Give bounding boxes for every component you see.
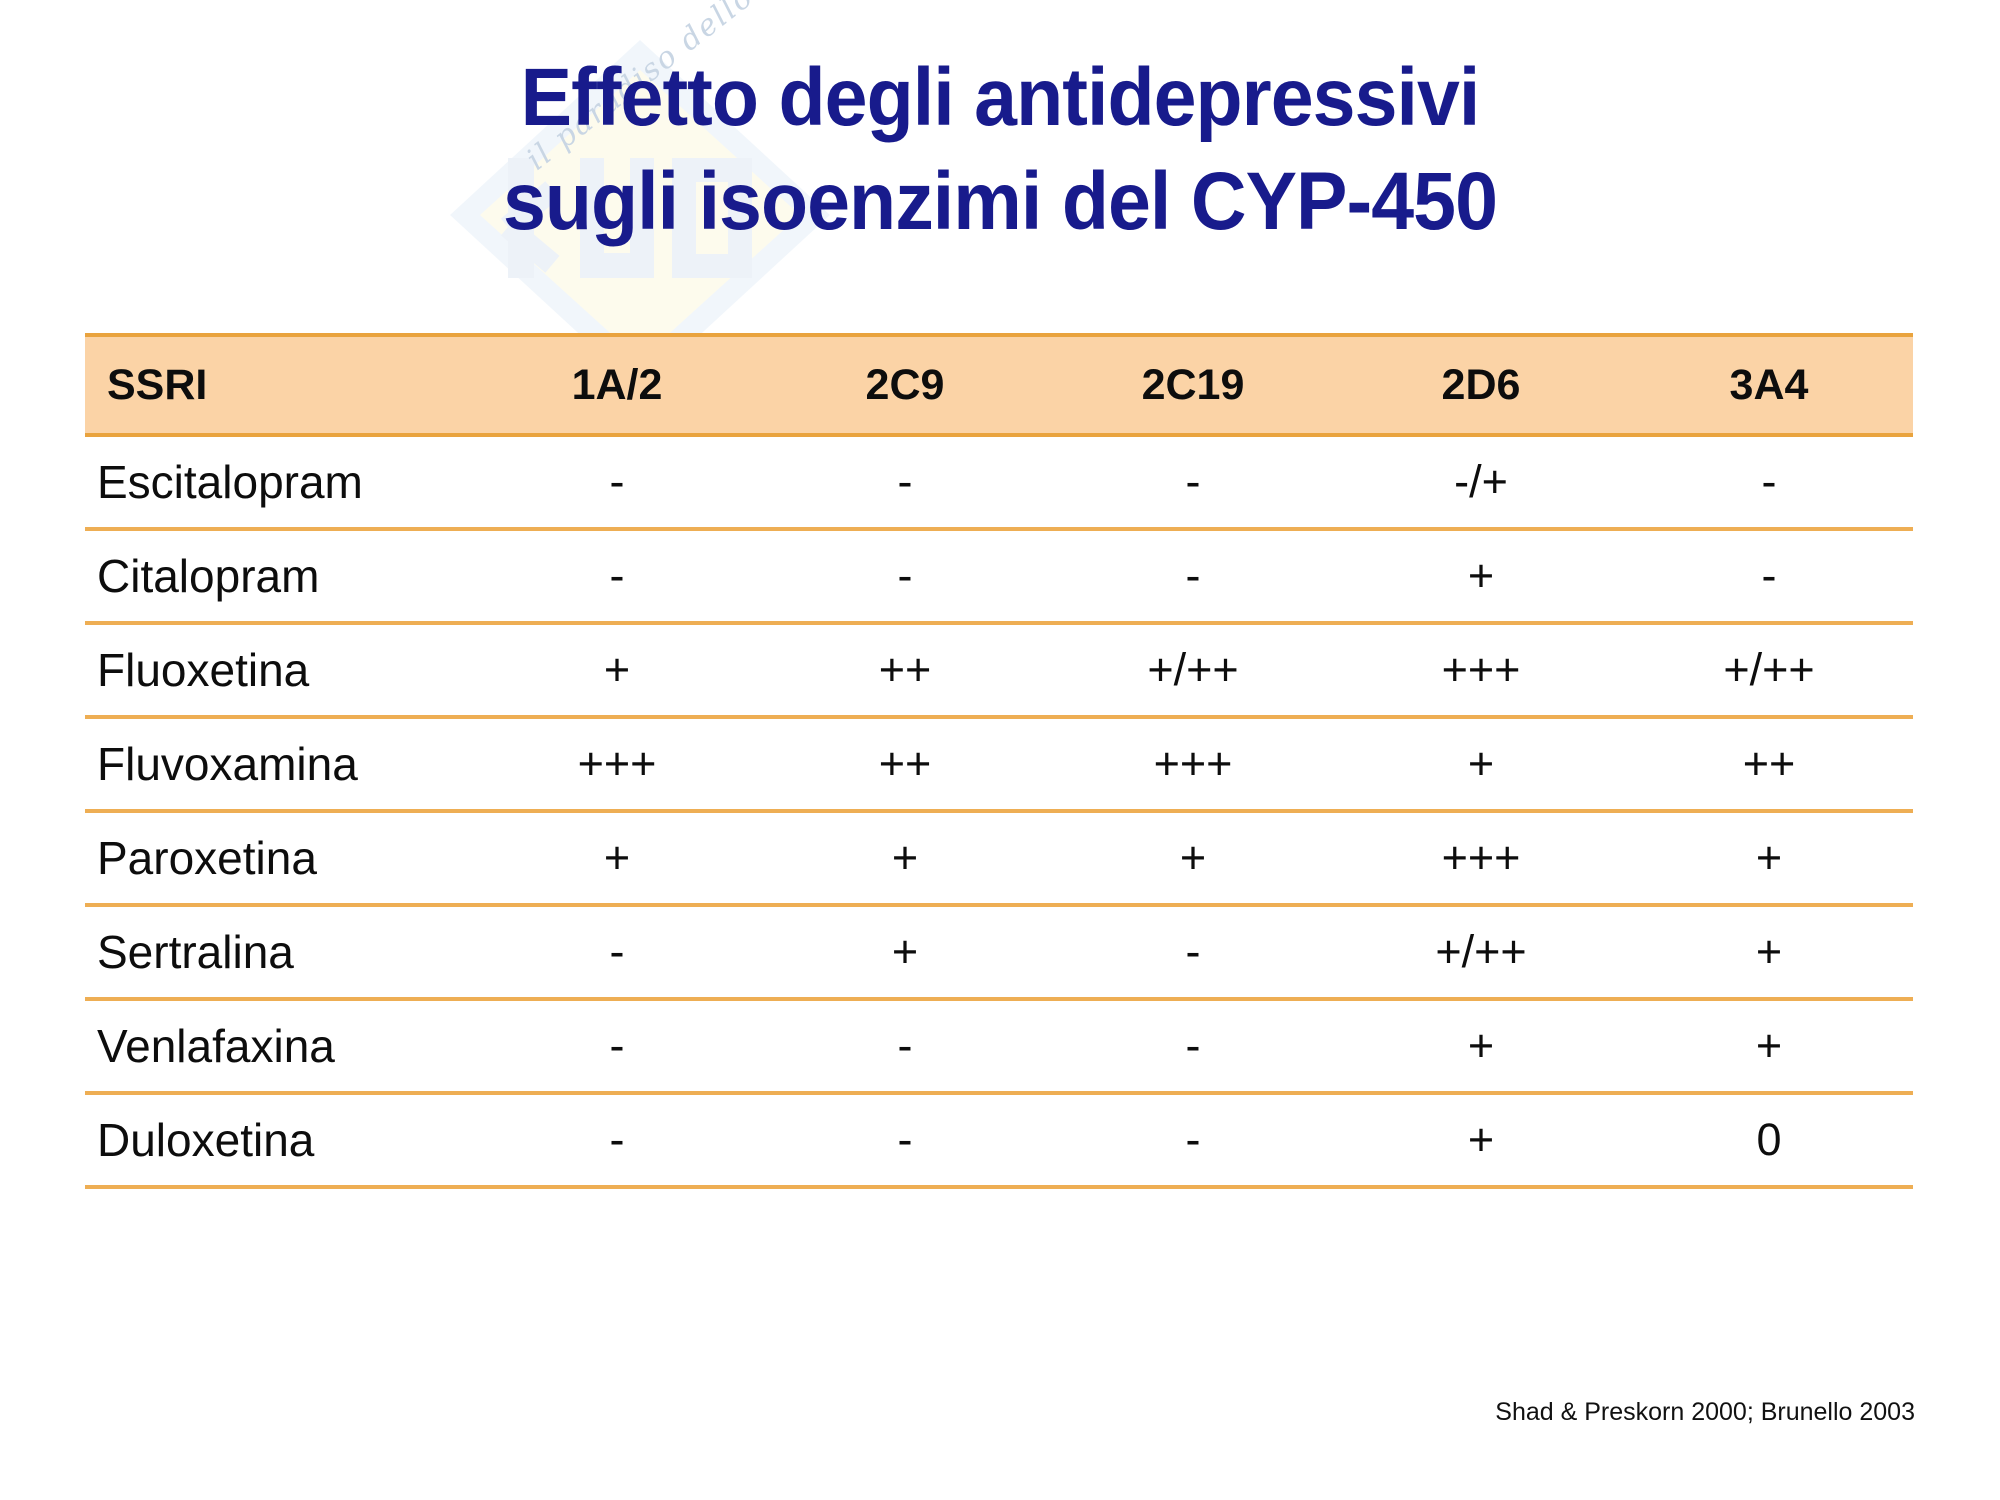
cell-2c19: +++	[1049, 717, 1337, 811]
cell-1a2: -	[473, 435, 761, 529]
cell-2c9: -	[761, 529, 1049, 623]
cell-2d6: +	[1337, 1093, 1625, 1187]
table-row: Duloxetina - - - + 0	[85, 1093, 1913, 1187]
cyp450-table-container: SSRI 1A/2 2C9 2C19 2D6 3A4 Escitalopram …	[85, 333, 1913, 1189]
cell-3a4: ++	[1625, 717, 1913, 811]
page-title-line-2: sugli isoenzimi del CYP-450	[60, 150, 1940, 254]
table-row: Sertralina - + - +/++ +	[85, 905, 1913, 999]
table-row: Escitalopram - - - -/+ -	[85, 435, 1913, 529]
cell-1a2: +++	[473, 717, 761, 811]
cell-2c19: -	[1049, 999, 1337, 1093]
table-header: SSRI 1A/2 2C9 2C19 2D6 3A4	[85, 335, 1913, 435]
cell-2c9: -	[761, 1093, 1049, 1187]
cell-2c19: -	[1049, 1093, 1337, 1187]
cell-2c19: +/++	[1049, 623, 1337, 717]
drug-name: Fluoxetina	[85, 623, 473, 717]
cell-2d6: +	[1337, 717, 1625, 811]
drug-name: Venlafaxina	[85, 999, 473, 1093]
drug-name: Duloxetina	[85, 1093, 473, 1187]
cell-2c19: +	[1049, 811, 1337, 905]
column-header-2c9: 2C9	[761, 335, 1049, 435]
cell-1a2: -	[473, 1093, 761, 1187]
cell-2c9: -	[761, 999, 1049, 1093]
cell-2d6: +	[1337, 999, 1625, 1093]
cell-2c9: +	[761, 811, 1049, 905]
cell-1a2: +	[473, 623, 761, 717]
cell-2d6: -/+	[1337, 435, 1625, 529]
cell-2c9: ++	[761, 717, 1049, 811]
cyp450-table: SSRI 1A/2 2C9 2C19 2D6 3A4 Escitalopram …	[85, 333, 1913, 1189]
cell-3a4: 0	[1625, 1093, 1913, 1187]
cell-2c9: ++	[761, 623, 1049, 717]
column-header-3a4: 3A4	[1625, 335, 1913, 435]
cell-3a4: +	[1625, 905, 1913, 999]
cell-3a4: +	[1625, 811, 1913, 905]
drug-name: Fluvoxamina	[85, 717, 473, 811]
cell-2d6: +++	[1337, 623, 1625, 717]
cell-3a4: +/++	[1625, 623, 1913, 717]
cell-2c19: -	[1049, 435, 1337, 529]
drug-name: Escitalopram	[85, 435, 473, 529]
cell-2c19: -	[1049, 529, 1337, 623]
table-row: Venlafaxina - - - + +	[85, 999, 1913, 1093]
drug-name: Paroxetina	[85, 811, 473, 905]
column-header-1a2: 1A/2	[473, 335, 761, 435]
cell-1a2: -	[473, 999, 761, 1093]
cell-1a2: -	[473, 529, 761, 623]
cell-2c19: -	[1049, 905, 1337, 999]
cell-1a2: -	[473, 905, 761, 999]
cell-2d6: +/++	[1337, 905, 1625, 999]
cell-2d6: +++	[1337, 811, 1625, 905]
column-header-ssri: SSRI	[85, 335, 473, 435]
column-header-2c19: 2C19	[1049, 335, 1337, 435]
cell-1a2: +	[473, 811, 761, 905]
cell-2c9: -	[761, 435, 1049, 529]
source-citation: Shad & Preskorn 2000; Brunello 2003	[0, 1398, 1915, 1427]
table-row: Fluoxetina + ++ +/++ +++ +/++	[85, 623, 1913, 717]
table-row: Paroxetina + + + +++ +	[85, 811, 1913, 905]
drug-name: Citalopram	[85, 529, 473, 623]
page-title: Effetto degli antidepressivi sugli isoen…	[60, 46, 1940, 254]
table-row: Fluvoxamina +++ ++ +++ + ++	[85, 717, 1913, 811]
cell-2c9: +	[761, 905, 1049, 999]
cell-2d6: +	[1337, 529, 1625, 623]
table-header-row: SSRI 1A/2 2C9 2C19 2D6 3A4	[85, 335, 1913, 435]
drug-name: Sertralina	[85, 905, 473, 999]
table-row: Citalopram - - - + -	[85, 529, 1913, 623]
page-title-line-1: Effetto degli antidepressivi	[60, 46, 1940, 150]
table-body: Escitalopram - - - -/+ - Citalopram - - …	[85, 435, 1913, 1187]
cell-3a4: -	[1625, 435, 1913, 529]
cell-3a4: +	[1625, 999, 1913, 1093]
column-header-2d6: 2D6	[1337, 335, 1625, 435]
cell-3a4: -	[1625, 529, 1913, 623]
